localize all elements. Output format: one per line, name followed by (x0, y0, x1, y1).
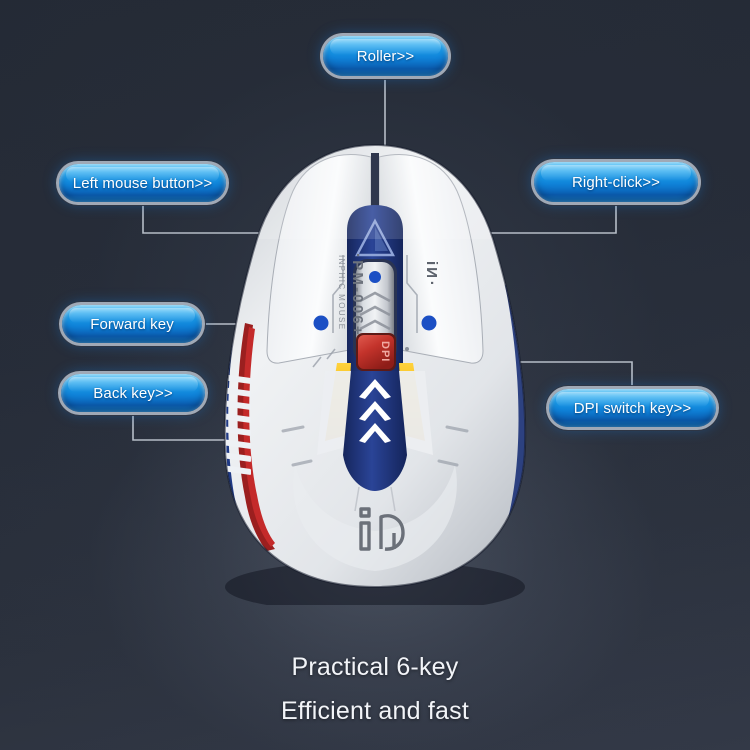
dpi-button-label: DPI (379, 341, 391, 362)
scroll-wheel-marker-dot (369, 271, 381, 283)
callout-back-key-label: Back key>> (93, 385, 172, 402)
right-button-dot (405, 347, 409, 351)
callout-right-click-label: Right-click>> (572, 174, 660, 191)
callout-roller-label: Roller>> (357, 48, 415, 65)
callout-dpi-switch-key-label: DPI switch key>> (574, 400, 691, 417)
callout-forward-key[interactable]: Forward key (62, 305, 202, 343)
left-button-marker-dot (314, 316, 329, 331)
body-top-highlight (257, 145, 493, 239)
product-infographic: ·PM-006+ INPHIC MOUSE ·Ni DPI (0, 0, 750, 750)
caption-line-2: Efficient and fast (0, 689, 750, 733)
callout-back-key[interactable]: Back key>> (61, 374, 205, 412)
dpi-switch-button[interactable]: DPI (356, 333, 396, 371)
brand-name-text: INPHIC MOUSE (337, 255, 346, 330)
right-button-marker-dot (422, 316, 437, 331)
model-number-text: ·PM-006+ (349, 253, 366, 337)
callout-roller[interactable]: Roller>> (323, 36, 448, 76)
callout-left-mouse-button-label: Left mouse button>> (73, 175, 213, 192)
callout-right-click[interactable]: Right-click>> (534, 162, 698, 202)
gaming-mouse-illustration: ·PM-006+ INPHIC MOUSE ·Ni DPI (175, 135, 575, 605)
caption-block: Practical 6-key Efficient and fast (0, 645, 750, 733)
right-button-brand-mark: ·Ni (423, 259, 440, 285)
callout-forward-key-label: Forward key (90, 316, 174, 333)
caption-line-1: Practical 6-key (0, 645, 750, 689)
callout-dpi-switch-key[interactable]: DPI switch key>> (549, 389, 716, 427)
callout-left-mouse-button[interactable]: Left mouse button>> (59, 164, 226, 202)
